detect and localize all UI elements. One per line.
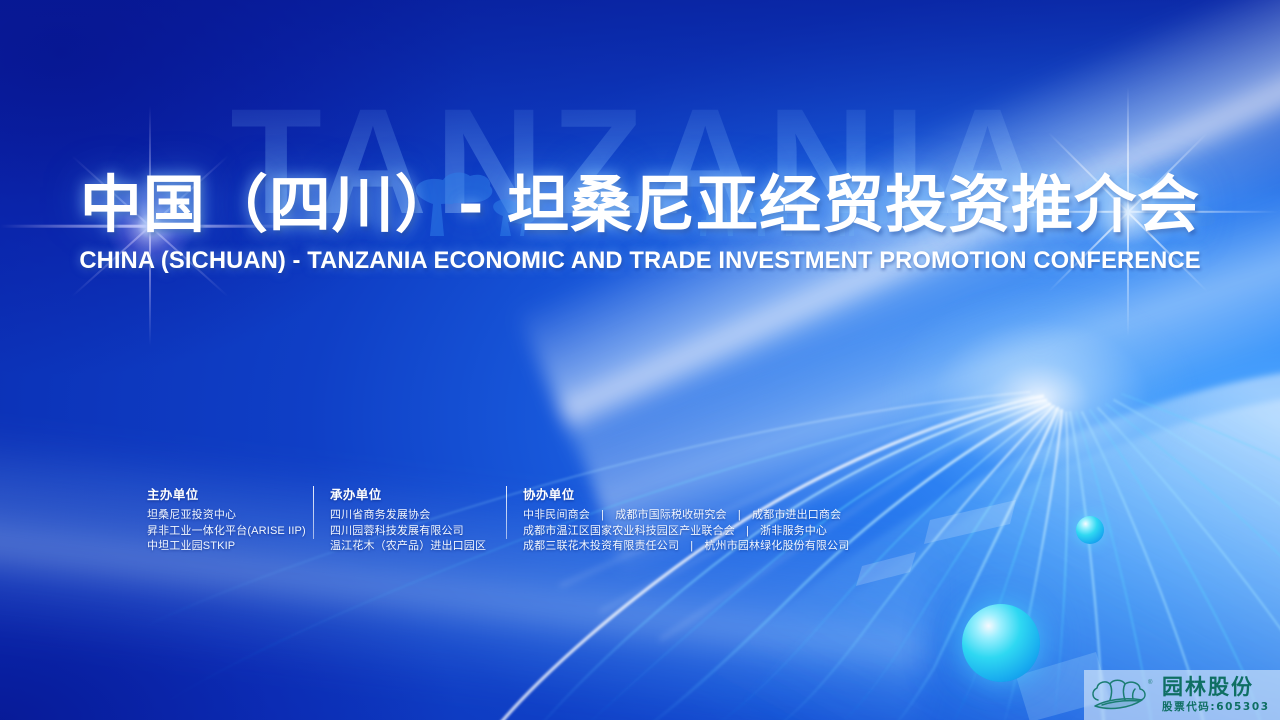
poster-stage: TANZANIA (0, 0, 1280, 720)
wildlife-silhouette-band (0, 146, 1280, 236)
organiser-column-host: 主办单位 坦桑尼亚投资中心 昇非工业一体化平台(ARISE IIP) 中坦工业园… (147, 484, 297, 555)
background-shade-top (0, 0, 1280, 200)
background-shade-top-left (0, 0, 760, 520)
organiser-item: 中非民间商会 | 成都市国际税收研究会 | 成都市进出口商会 (523, 508, 849, 524)
organiser-column-heading: 承办单位 (330, 484, 490, 503)
glowing-sphere-small (1076, 516, 1104, 544)
organiser-item: 坦桑尼亚投资中心 (147, 508, 297, 524)
glowing-sphere-large (962, 604, 1040, 682)
organiser-item: 成都市温江区国家农业科技园区产业联合会 | 浙非服务中心 (523, 524, 849, 540)
organiser-item: 成都三联花木投资有限责任公司 | 杭州市园林绿化股份有限公司 (523, 539, 849, 555)
organiser-item: 四川园蓉科技发展有限公司 (330, 524, 490, 540)
logo-watermark: ® 园林股份 股票代码:605303 (1084, 670, 1280, 720)
organiser-column-heading: 主办单位 (147, 484, 297, 503)
organisers-block: 主办单位 坦桑尼亚投资中心 昇非工业一体化平台(ARISE IIP) 中坦工业园… (147, 484, 849, 555)
logo-name: 园林股份 (1162, 677, 1270, 698)
organiser-divider (506, 486, 507, 539)
light-ribbons (0, 0, 1280, 720)
light-sweep-upper-right (515, 0, 1280, 510)
organiser-column-support: 协办单位 中非民间商会 | 成都市国际税收研究会 | 成都市进出口商会 成都市温… (523, 484, 849, 555)
organiser-item: 昇非工业一体化平台(ARISE IIP) (147, 524, 297, 540)
organiser-item: 温江花木（农产品）进出口园区 (330, 539, 490, 555)
page-subtitle: CHINA (SICHUAN) - TANZANIA ECONOMIC AND … (19, 247, 1261, 275)
organiser-item: 中坦工业园STKIP (147, 539, 297, 555)
page-title: 中国（四川）- 坦桑尼亚经贸投资推介会 (0, 172, 1280, 237)
logo-text-block: 园林股份 股票代码:605303 (1162, 677, 1270, 713)
organiser-column-organizer: 承办单位 四川省商务发展协会 四川园蓉科技发展有限公司 温江花木（农产品）进出口… (330, 484, 490, 555)
organiser-column-heading: 协办单位 (523, 484, 849, 503)
svg-text:®: ® (1148, 679, 1153, 686)
organiser-item: 四川省商务发展协会 (330, 508, 490, 524)
background-shade-bottom-left (0, 390, 700, 720)
logo-stock-code: 股票代码:605303 (1162, 702, 1270, 713)
light-vanishing-point-glow (830, 248, 1250, 548)
curved-light-streams (0, 0, 1280, 720)
cloud-leaf-logo-icon: ® (1090, 675, 1156, 715)
watermark-text: TANZANIA (230, 96, 1049, 236)
light-sweep-left (0, 406, 938, 720)
organiser-divider (313, 486, 314, 539)
title-block: 中国（四川）- 坦桑尼亚经贸投资推介会 CHINA (SICHUAN) - TA… (0, 172, 1280, 275)
background-watermark: TANZANIA (0, 96, 1280, 236)
